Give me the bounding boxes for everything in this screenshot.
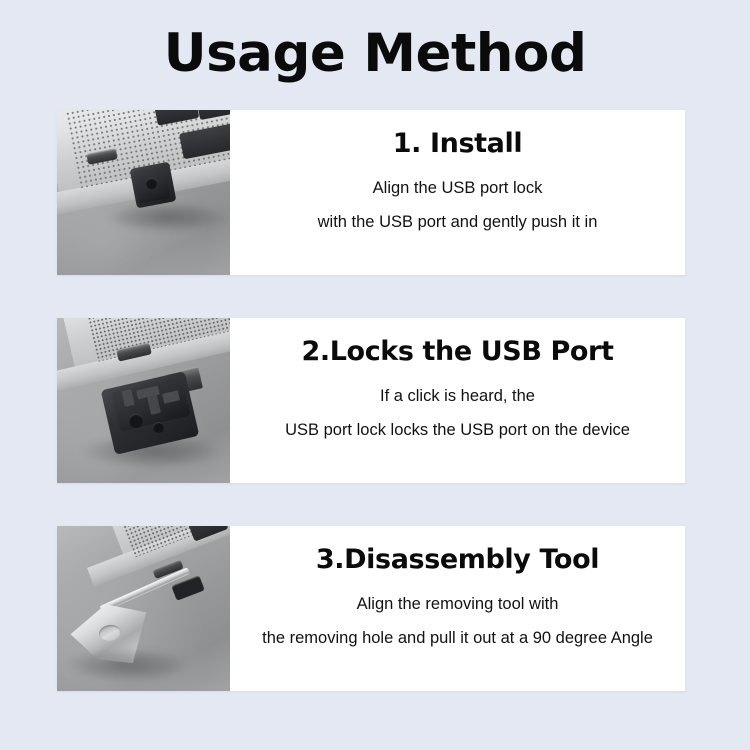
step-photo-disassembly	[57, 526, 230, 691]
step-heading: 2.Locks the USB Port	[302, 335, 614, 369]
drop-shadow	[67, 648, 187, 682]
page-title: Usage Method	[0, 22, 750, 86]
step-line: with the USB port and gently push it in	[230, 205, 685, 239]
photo-scene	[57, 526, 230, 691]
usage-method-page: Usage Method	[0, 0, 750, 750]
step-line: USB port lock locks the USB port on the …	[230, 413, 685, 447]
step-description: Align the removing tool with the removin…	[230, 587, 685, 655]
step-heading: 3.Disassembly Tool	[316, 543, 599, 577]
step-line: Align the removing tool with	[230, 587, 685, 621]
step-heading: 1. Install	[393, 127, 522, 161]
step-card: 3.Disassembly Tool Align the removing to…	[57, 526, 685, 691]
step-card: 1. Install Align the USB port lock with …	[57, 110, 685, 275]
photo-scene	[57, 318, 230, 483]
step-list: 1. Install Align the USB port lock with …	[57, 110, 685, 691]
step-description: If a click is heard, the USB port lock l…	[230, 379, 685, 447]
step-body: 1. Install Align the USB port lock with …	[230, 110, 685, 275]
step-photo-install	[57, 110, 230, 275]
photo-scene	[57, 110, 230, 275]
drop-shadow	[107, 202, 227, 232]
step-body: 2.Locks the USB Port If a click is heard…	[230, 318, 685, 483]
drop-shadow	[81, 434, 221, 468]
step-line: If a click is heard, the	[230, 379, 685, 413]
step-line: the removing hole and pull it out at a 9…	[230, 621, 685, 655]
step-line: Align the USB port lock	[230, 171, 685, 205]
step-body: 3.Disassembly Tool Align the removing to…	[230, 526, 685, 691]
step-description: Align the USB port lock with the USB por…	[230, 171, 685, 239]
step-photo-locks	[57, 318, 230, 483]
step-card: 2.Locks the USB Port If a click is heard…	[57, 318, 685, 483]
